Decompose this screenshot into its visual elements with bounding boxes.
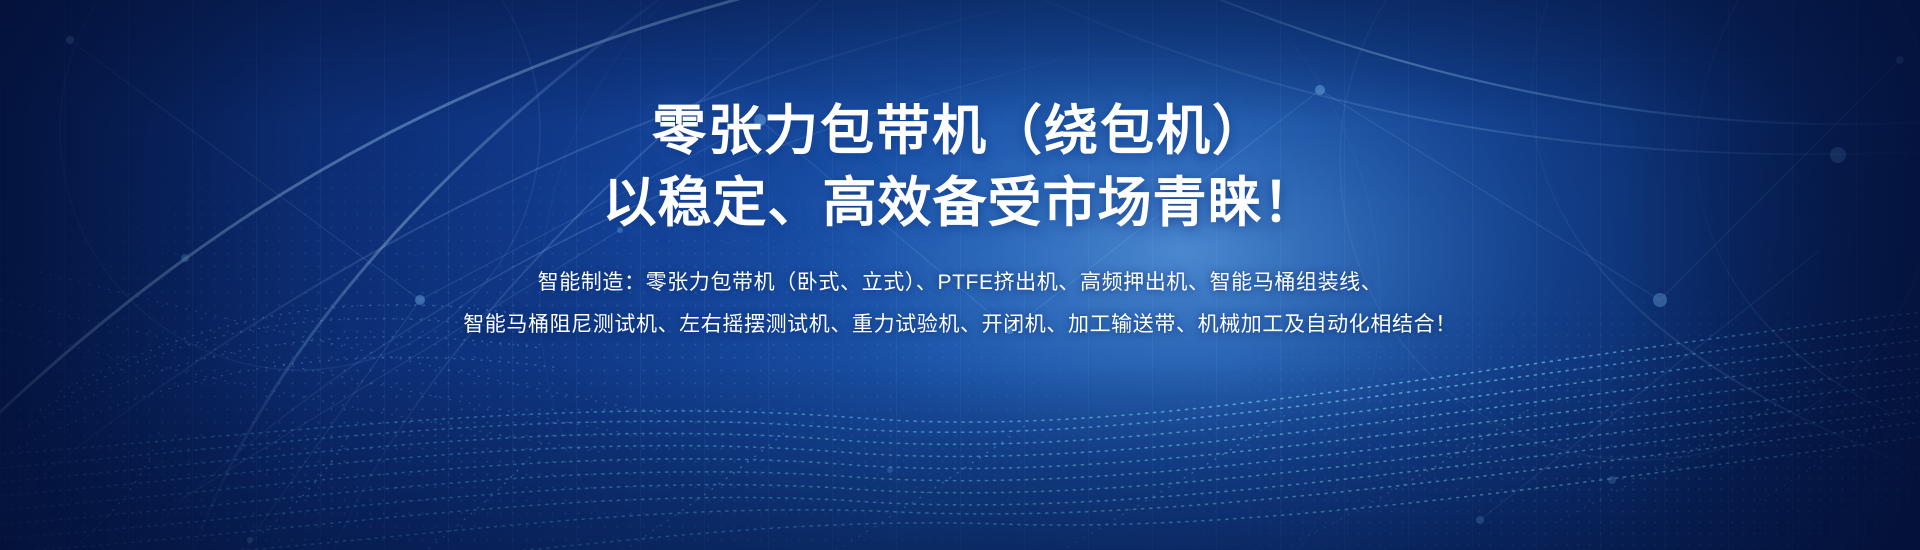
banner-subtitle-line-2: 智能马桶阻尼测试机、左右摇摆测试机、重力试验机、开闭机、加工输送带、机械加工及自…: [463, 304, 1457, 346]
hero-banner: 零张力包带机（绕包机） 以稳定、高效备受市场青睐！ 智能制造：零张力包带机（卧式…: [0, 0, 1920, 550]
banner-subtitle-line-1: 智能制造：零张力包带机（卧式、立式）、PTFE挤出机、高频押出机、智能马桶组装线…: [463, 262, 1457, 304]
banner-subtitle-block: 智能制造：零张力包带机（卧式、立式）、PTFE挤出机、高频押出机、智能马桶组装线…: [463, 262, 1457, 346]
banner-title-line-1: 零张力包带机（绕包机）: [652, 96, 1268, 166]
banner-title-line-2: 以稳定、高效备受市场青睐！: [603, 168, 1318, 238]
banner-content: 零张力包带机（绕包机） 以稳定、高效备受市场青睐！ 智能制造：零张力包带机（卧式…: [0, 0, 1920, 550]
